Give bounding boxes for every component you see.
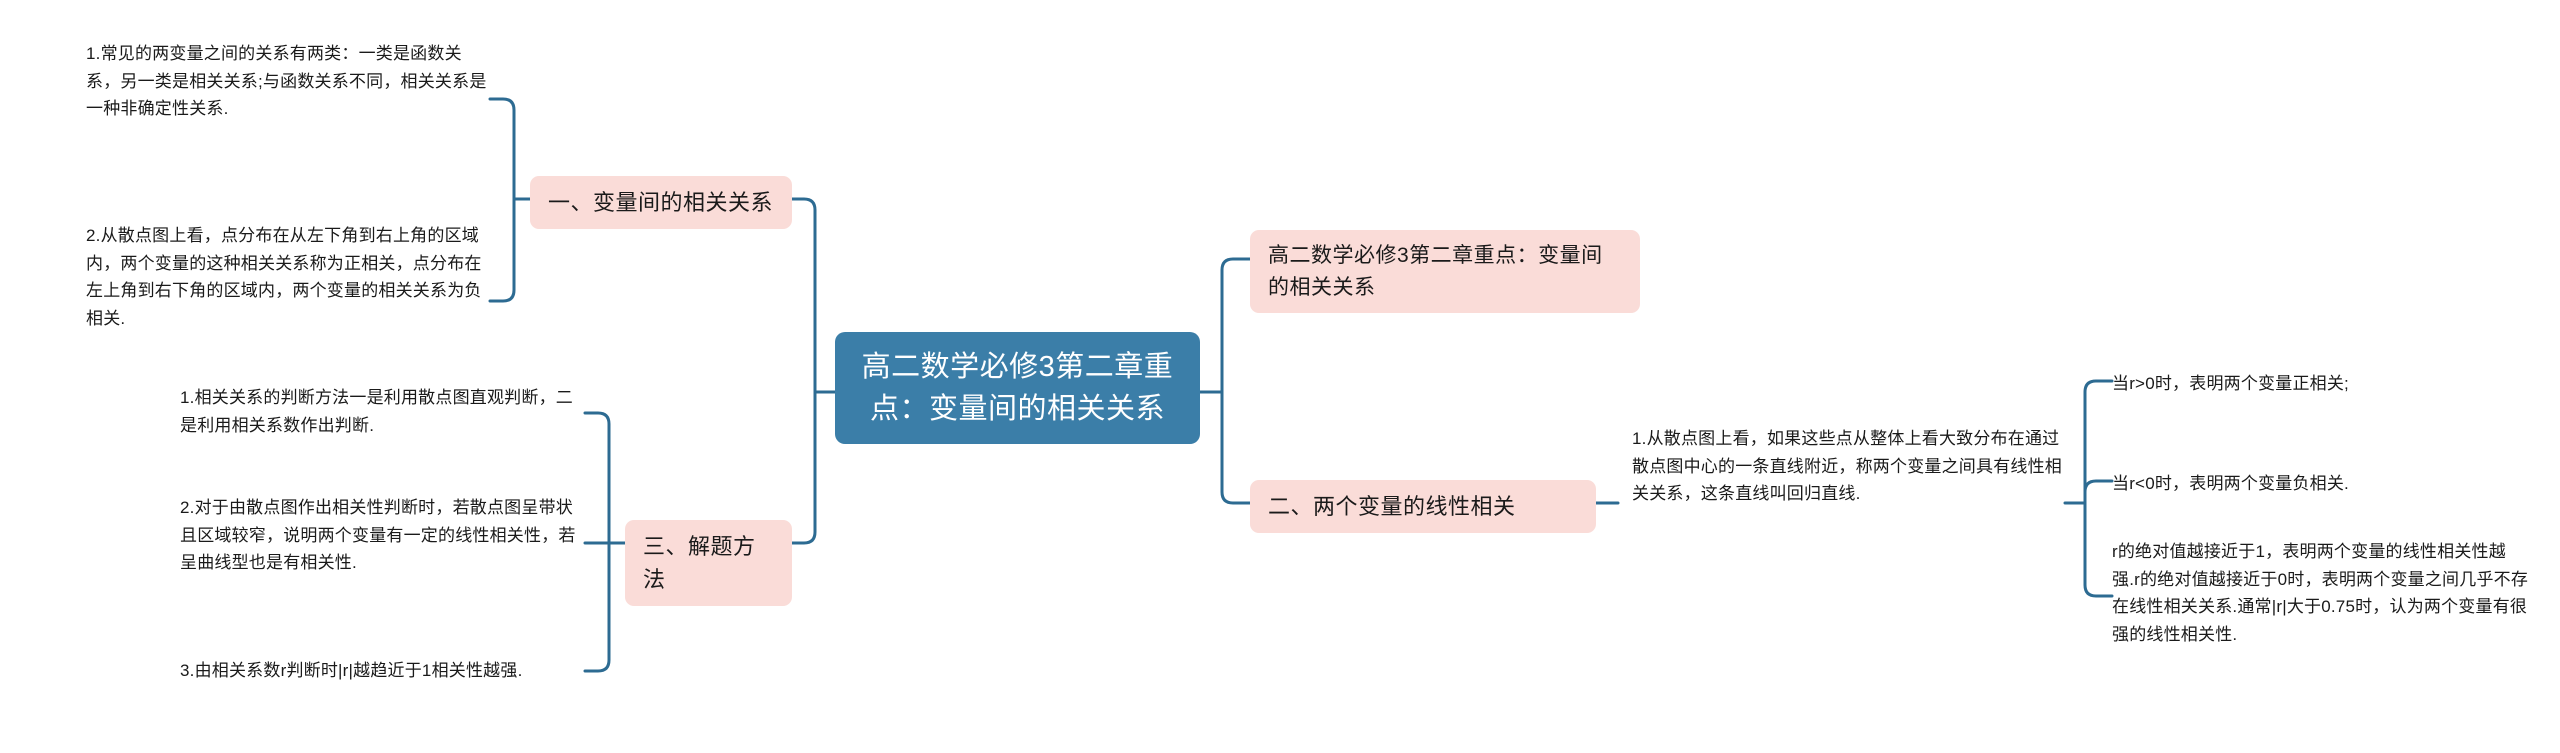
topic-node-problem-solving[interactable]: 三、解题方法 xyxy=(625,520,792,606)
topic-node-chapter-title[interactable]: 高二数学必修3第二章重点：变量间的相关关系 xyxy=(1250,230,1640,313)
leaf-node-left-2-2[interactable]: 2.对于由散点图作出相关性判断时，若散点图呈带状且区域较窄，说明两个变量有一定的… xyxy=(180,494,585,577)
topic-node-linear-correlation[interactable]: 二、两个变量的线性相关 xyxy=(1250,480,1596,533)
leaf-node-label: 2.对于由散点图作出相关性判断时，若散点图呈带状且区域较窄，说明两个变量有一定的… xyxy=(180,498,576,572)
leaf-node-right-2-1-2[interactable]: 当r<0时，表明两个变量负相关. xyxy=(2112,470,2532,498)
leaf-node-label: 3.由相关系数r判断时|r|越趋近于1相关性越强. xyxy=(180,661,523,680)
leaf-node-right-2-1[interactable]: 1.从散点图上看，如果这些点从整体上看大致分布在通过散点图中心的一条直线附近，称… xyxy=(1632,425,2065,508)
leaf-node-right-2-1-3[interactable]: r的绝对值越接近于1，表明两个变量的线性相关性越强.r的绝对值越接近于0时，表明… xyxy=(2112,538,2532,648)
topic-node-label: 一、变量间的相关关系 xyxy=(548,190,773,215)
leaf-node-left-1-2[interactable]: 2.从散点图上看，点分布在从左下角到右上角的区域内，两个变量的这种相关关系称为正… xyxy=(86,222,490,332)
leaf-node-label: r的绝对值越接近于1，表明两个变量的线性相关性越强.r的绝对值越接近于0时，表明… xyxy=(2112,542,2528,644)
topic-node-label: 高二数学必修3第二章重点：变量间的相关关系 xyxy=(1268,244,1603,299)
topic-node-variable-correlation[interactable]: 一、变量间的相关关系 xyxy=(530,176,792,229)
leaf-node-label: 当r<0时，表明两个变量负相关. xyxy=(2112,474,2349,493)
leaf-node-label: 1.常见的两变量之间的关系有两类：一类是函数关系，另一类是相关关系;与函数关系不… xyxy=(86,44,487,118)
leaf-node-left-1-1[interactable]: 1.常见的两变量之间的关系有两类：一类是函数关系，另一类是相关关系;与函数关系不… xyxy=(86,40,490,123)
topic-node-label: 三、解题方法 xyxy=(643,534,756,592)
leaf-node-label: 1.相关关系的判断方法一是利用散点图直观判断，二是利用相关系数作出判断. xyxy=(180,388,573,435)
root-node-label: 高二数学必修3第二章重点：变量间的相关关系 xyxy=(862,351,1174,425)
leaf-node-left-2-1[interactable]: 1.相关关系的判断方法一是利用散点图直观判断，二是利用相关系数作出判断. xyxy=(180,384,585,439)
mindmap-canvas: 高二数学必修3第二章重点：变量间的相关关系 一、变量间的相关关系 1.常见的两变… xyxy=(0,0,2560,753)
leaf-node-label: 2.从散点图上看，点分布在从左下角到右上角的区域内，两个变量的这种相关关系称为正… xyxy=(86,226,482,328)
leaf-node-right-2-1-1[interactable]: 当r>0时，表明两个变量正相关; xyxy=(2112,370,2532,398)
leaf-node-label: 当r>0时，表明两个变量正相关; xyxy=(2112,374,2349,393)
topic-node-label: 二、两个变量的线性相关 xyxy=(1268,494,1516,519)
root-node[interactable]: 高二数学必修3第二章重点：变量间的相关关系 xyxy=(835,332,1200,444)
leaf-node-label: 1.从散点图上看，如果这些点从整体上看大致分布在通过散点图中心的一条直线附近，称… xyxy=(1632,429,2062,503)
leaf-node-left-2-3[interactable]: 3.由相关系数r判断时|r|越趋近于1相关性越强. xyxy=(180,657,585,685)
